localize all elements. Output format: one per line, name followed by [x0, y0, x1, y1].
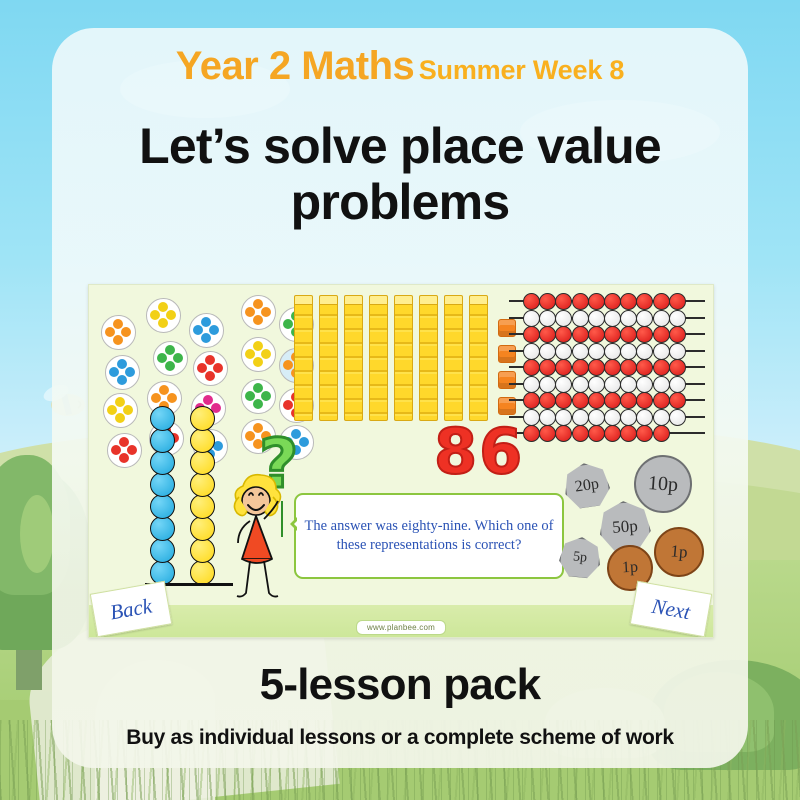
bead-string-row [509, 310, 705, 325]
website-chip: www.planbee.com [356, 620, 446, 635]
bead [669, 409, 686, 426]
bead [669, 343, 686, 360]
bead [555, 409, 572, 426]
bead [588, 376, 605, 393]
bead [669, 376, 686, 393]
bead [572, 409, 589, 426]
bead [669, 293, 686, 310]
bead-string-row [509, 343, 705, 358]
bead [636, 376, 653, 393]
bead [523, 409, 540, 426]
abacus-bead [150, 428, 175, 453]
tree-highlight [20, 495, 54, 573]
lesson-slide-preview[interactable]: ? 86 The answer was eighty-nine. Which o… [88, 284, 714, 638]
bead [669, 310, 686, 327]
counter [189, 313, 224, 348]
bead-string-row [509, 409, 705, 424]
counter [241, 379, 276, 414]
bead [523, 425, 540, 442]
girl-character [217, 471, 295, 601]
tens-rod [394, 301, 413, 421]
bead [669, 392, 686, 409]
bead [539, 293, 556, 310]
bead [555, 293, 572, 310]
abacus-bead [150, 472, 175, 497]
coin-label: 20p [574, 475, 600, 496]
abacus-bead [150, 450, 175, 475]
bead [636, 409, 653, 426]
coin-label: 50p [612, 516, 639, 538]
bead [620, 359, 637, 376]
abacus-bead [150, 516, 175, 541]
pack-subtitle: Buy as individual lessons or a complete … [42, 726, 758, 750]
poster-canvas: Year 2 Maths Summer Week 8 Let’s solve p… [0, 0, 800, 800]
header-kicker: Year 2 Maths Summer Week 8 [52, 44, 748, 89]
bead [539, 326, 556, 343]
abacus-bead [190, 450, 215, 475]
bead [653, 310, 670, 327]
counter [101, 315, 136, 350]
bead [572, 376, 589, 393]
coins-group: 20p10p50p5p1p1p [559, 453, 709, 593]
bead [588, 392, 605, 409]
bead [588, 326, 605, 343]
coin-1p: 1p [652, 525, 706, 579]
bead [636, 326, 653, 343]
counter [193, 351, 228, 386]
bead [636, 343, 653, 360]
counter [105, 355, 140, 390]
big-number-86: 86 [434, 415, 524, 488]
bead-string-row [509, 359, 705, 374]
bead [653, 392, 670, 409]
bead [588, 343, 605, 360]
bead [555, 359, 572, 376]
bead [653, 409, 670, 426]
bead [620, 310, 637, 327]
tens-rod [419, 301, 438, 421]
coin-5p: 5p [557, 535, 603, 581]
bead [539, 425, 556, 442]
bead [523, 310, 540, 327]
bead [572, 343, 589, 360]
bead [555, 343, 572, 360]
bead [636, 293, 653, 310]
tens-rod [344, 301, 363, 421]
bead [523, 293, 540, 310]
bead [669, 326, 686, 343]
counter [103, 393, 138, 428]
bead [653, 343, 670, 360]
bead [588, 409, 605, 426]
abacus-bead [190, 516, 215, 541]
bead [636, 359, 653, 376]
abacus-bead [190, 494, 215, 519]
bead [636, 392, 653, 409]
bead [539, 392, 556, 409]
tens-rod [319, 301, 338, 421]
bead [620, 425, 637, 442]
pack-label: 5-lesson pack [52, 660, 748, 710]
bead-strings-group [509, 293, 705, 443]
bead [620, 293, 637, 310]
bead [620, 343, 637, 360]
bead-string-row [509, 425, 705, 440]
bead [604, 376, 621, 393]
bead [588, 359, 605, 376]
abacus-bead [190, 472, 215, 497]
bead [539, 376, 556, 393]
bead [604, 392, 621, 409]
coin-20p: 20p [561, 460, 613, 512]
subject-label: Year 2 Maths [176, 44, 415, 88]
bead [636, 310, 653, 327]
bead [555, 392, 572, 409]
bead [653, 326, 670, 343]
abacus-bead [190, 560, 215, 585]
counter [146, 298, 181, 333]
bead-string-row [509, 392, 705, 407]
bead [572, 326, 589, 343]
coin-label: 10p [647, 471, 679, 496]
week-label: Summer Week 8 [419, 55, 625, 85]
coin-10p: 10p [632, 453, 694, 515]
abacus-bead [150, 406, 175, 431]
bead [572, 425, 589, 442]
bead [636, 425, 653, 442]
bead [653, 293, 670, 310]
bead [620, 409, 637, 426]
bead [588, 310, 605, 327]
bead [539, 359, 556, 376]
bead [523, 343, 540, 360]
bead [572, 359, 589, 376]
bead [604, 359, 621, 376]
bead [604, 425, 621, 442]
coin-label: 1p [670, 541, 689, 562]
counter [241, 337, 276, 372]
bead [555, 326, 572, 343]
bead-string-row [509, 326, 705, 341]
page-title: Let’s solve place value problems [72, 118, 728, 230]
bead [539, 343, 556, 360]
bead [620, 326, 637, 343]
counter [107, 433, 142, 468]
bead [555, 425, 572, 442]
abacus-bead [190, 428, 215, 453]
bead [539, 409, 556, 426]
tens-rod [444, 301, 463, 421]
bead [539, 310, 556, 327]
bead [620, 392, 637, 409]
bead [669, 359, 686, 376]
bead [523, 326, 540, 343]
bead [523, 376, 540, 393]
abacus-bead [190, 538, 215, 563]
bead [620, 376, 637, 393]
abacus-bead [150, 538, 175, 563]
bead [588, 293, 605, 310]
coin-label: 1p [622, 559, 639, 578]
bead [555, 310, 572, 327]
bead-string-row [509, 293, 705, 308]
counter [153, 341, 188, 376]
bead [604, 310, 621, 327]
counter [241, 295, 276, 330]
bead [572, 293, 589, 310]
bead-string-row [509, 376, 705, 391]
bead [555, 376, 572, 393]
bead [604, 343, 621, 360]
bead [604, 409, 621, 426]
tens-rod [369, 301, 388, 421]
abacus-bead [150, 494, 175, 519]
bead [523, 392, 540, 409]
abacus-bead [190, 406, 215, 431]
bead [604, 326, 621, 343]
bead [653, 359, 670, 376]
coin-label: 5p [572, 549, 588, 566]
bead [572, 310, 589, 327]
bead [572, 392, 589, 409]
speech-bubble: The answer was eighty-nine. Which one of… [294, 493, 564, 579]
bead [588, 425, 605, 442]
bead [653, 425, 670, 442]
bead [604, 293, 621, 310]
bead [653, 376, 670, 393]
tens-rod [294, 301, 313, 421]
bead [523, 359, 540, 376]
tens-rod [469, 301, 488, 421]
